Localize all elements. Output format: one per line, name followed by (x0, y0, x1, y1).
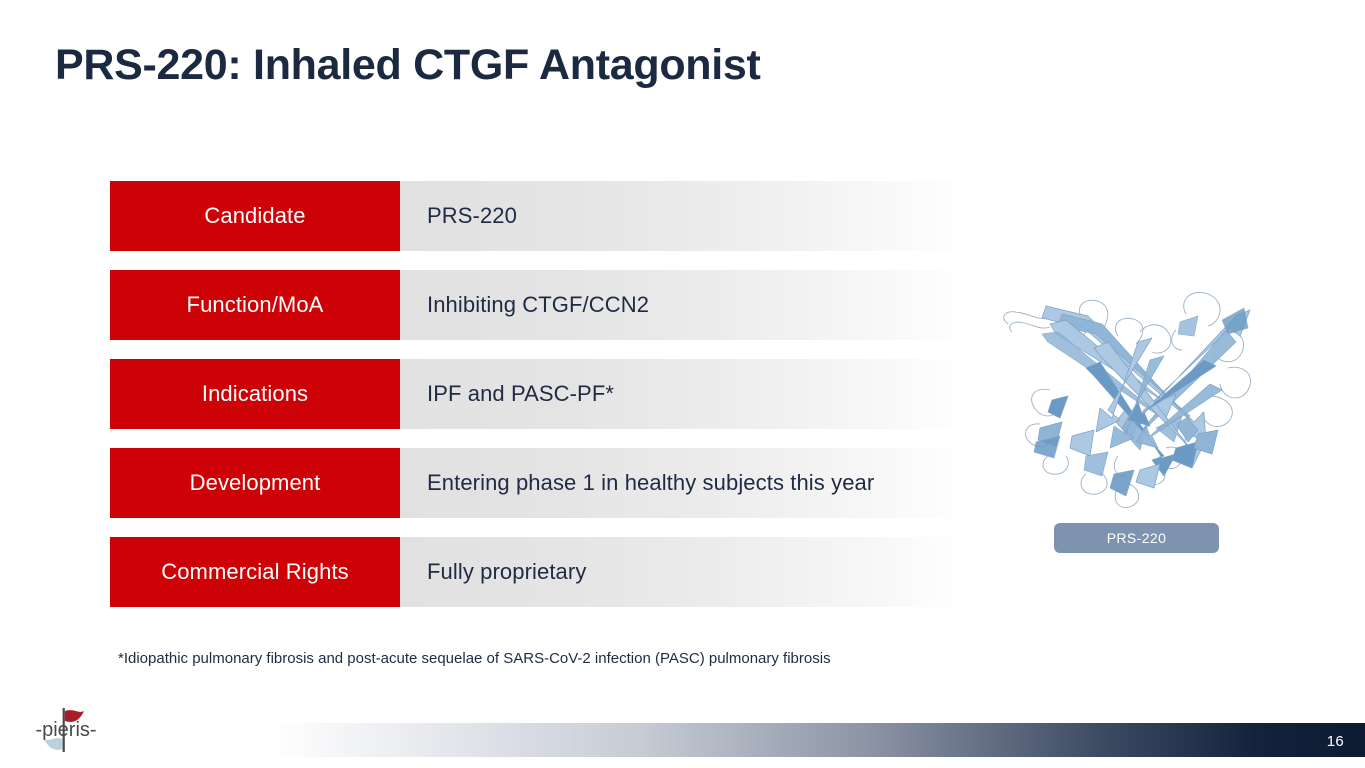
protein-ribbon-icon (990, 272, 1280, 517)
page-title: PRS-220: Inhaled CTGF Antagonist (55, 41, 761, 90)
table-row: Development Entering phase 1 in healthy … (110, 448, 970, 518)
spec-table: Candidate PRS-220 Function/MoA Inhibitin… (110, 181, 970, 607)
row-label-indications: Indications (110, 359, 400, 429)
row-value-commercial-rights: Fully proprietary (400, 537, 970, 607)
row-label-commercial-rights: Commercial Rights (110, 537, 400, 607)
row-value-function-moa: Inhibiting CTGF/CCN2 (400, 270, 970, 340)
footer-gradient-bar (270, 723, 1365, 757)
row-value-indications: IPF and PASC-PF* (400, 359, 970, 429)
row-label-function-moa: Function/MoA (110, 270, 400, 340)
protein-label-badge: PRS-220 (1054, 523, 1219, 553)
protein-figure: PRS-220 (990, 272, 1280, 562)
pieris-logo-text: -pieris- (35, 719, 96, 741)
table-row: Indications IPF and PASC-PF* (110, 359, 970, 429)
page-number: 16 (1327, 733, 1344, 750)
table-row: Function/MoA Inhibiting CTGF/CCN2 (110, 270, 970, 340)
table-row: Candidate PRS-220 (110, 181, 970, 251)
row-label-candidate: Candidate (110, 181, 400, 251)
pieris-logo-icon: -pieris- (16, 702, 116, 758)
pieris-logo: -pieris- (16, 702, 116, 758)
row-value-development: Entering phase 1 in healthy subjects thi… (400, 448, 970, 518)
table-row: Commercial Rights Fully proprietary (110, 537, 970, 607)
row-value-candidate: PRS-220 (400, 181, 970, 251)
footnote: *Idiopathic pulmonary fibrosis and post-… (118, 650, 831, 667)
row-label-development: Development (110, 448, 400, 518)
